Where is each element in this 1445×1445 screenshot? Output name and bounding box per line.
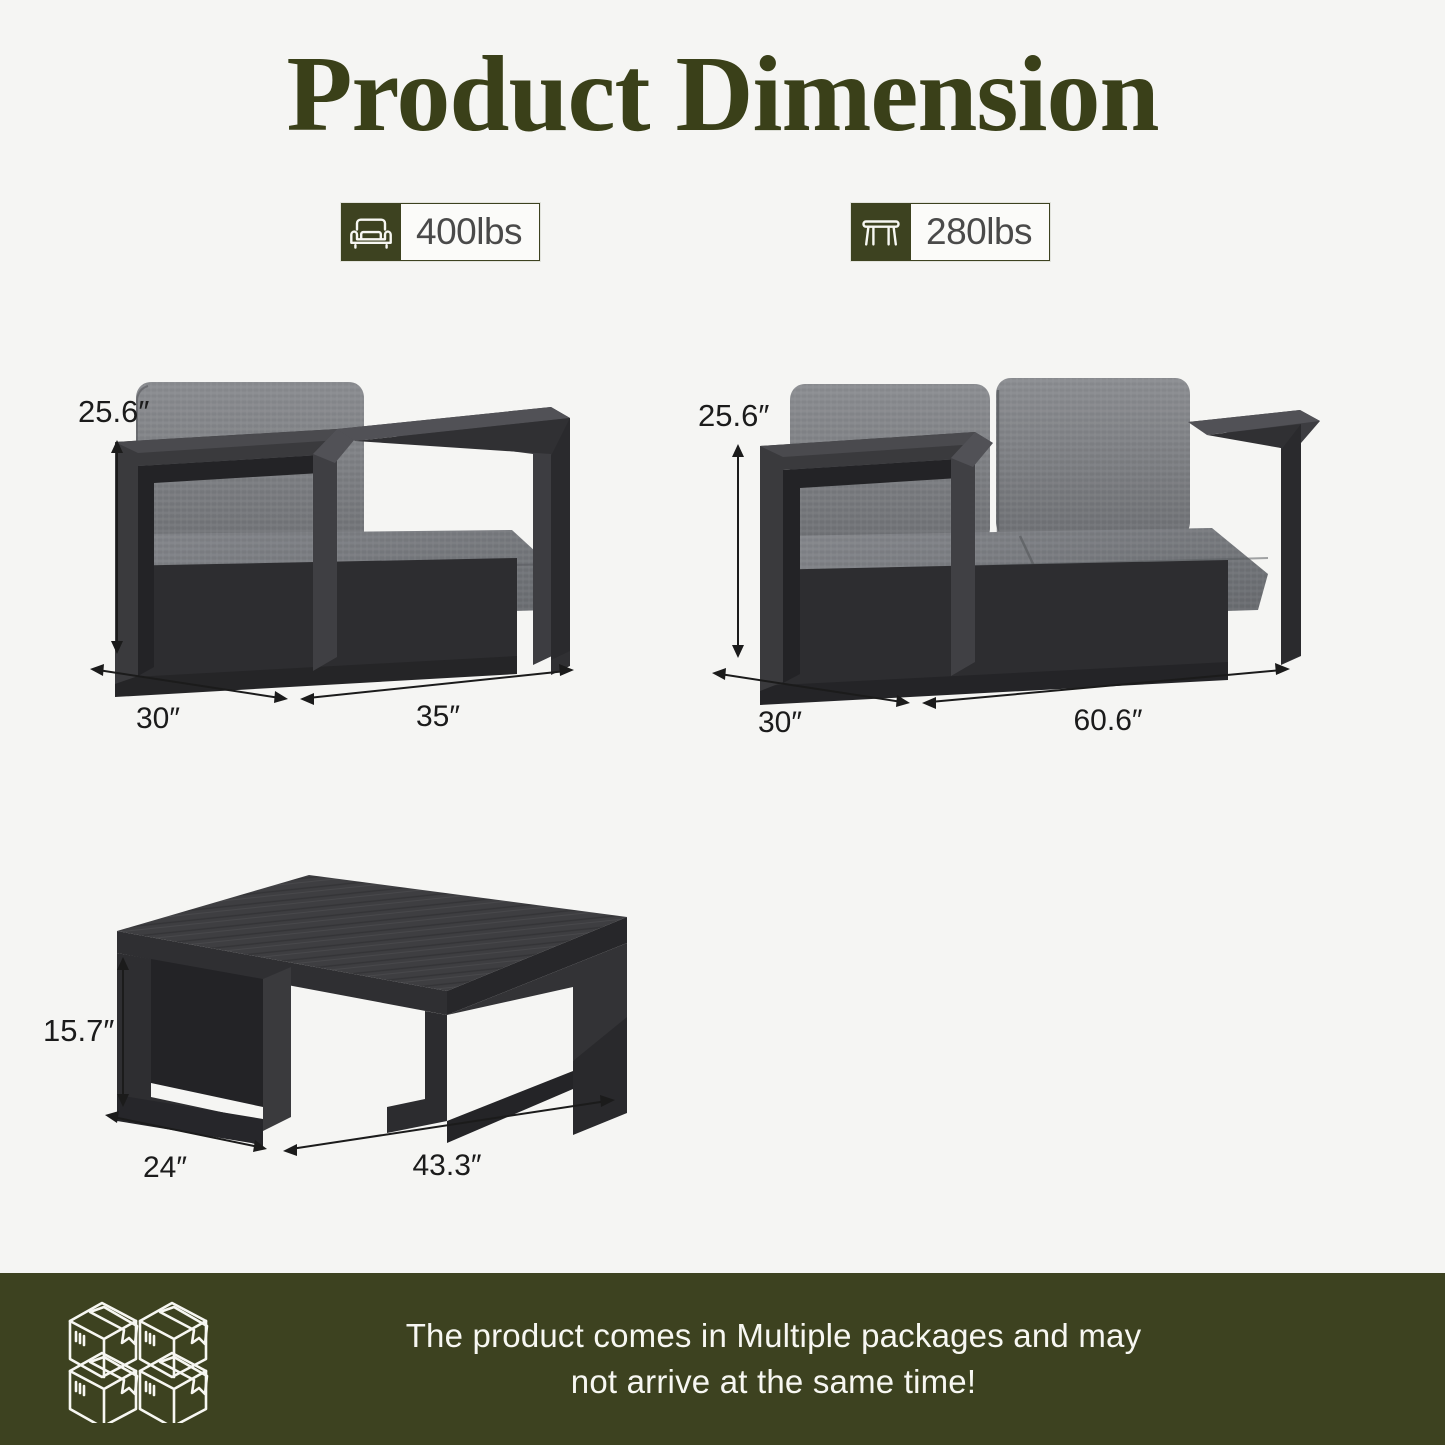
packages-icon [62, 1291, 222, 1428]
coffee-table-height-label: 15.7″ [43, 1013, 114, 1048]
footer-message: The product comes in Multiple packages a… [222, 1313, 1445, 1404]
footer-message-line1: The product comes in Multiple packages a… [222, 1313, 1325, 1359]
loveseat-base [760, 560, 1228, 705]
footer-banner: The product comes in Multiple packages a… [0, 1273, 1445, 1445]
loveseat-height-dimension: 25.6″ [698, 398, 769, 658]
armchair-figure: 25.6″ 30″ 35″ [70, 360, 630, 750]
sofa-icon [341, 203, 401, 261]
coffee-table-left-leg [117, 953, 291, 1147]
armchair-depth-label: 30″ [136, 702, 180, 735]
loveseat-width-label: 60.6″ [1073, 704, 1142, 737]
capacity-badge-sofa: 400lbs [341, 203, 540, 261]
loveseat-height-label: 25.6″ [698, 398, 769, 433]
footer-message-line2: not arrive at the same time! [222, 1359, 1325, 1405]
coffee-table-depth-label: 24″ [143, 1151, 187, 1184]
capacity-badge-table-value: 280lbs [911, 203, 1050, 261]
coffee-table-width-label: 43.3″ [412, 1149, 481, 1182]
loveseat-depth-label: 30″ [758, 706, 802, 739]
coffee-table-height-dimension: 15.7″ [43, 957, 129, 1107]
armchair-height-label: 25.6″ [78, 394, 149, 429]
infographic-page: Product Dimension 400lbs [0, 0, 1445, 1445]
loveseat-figure: 25.6″ 30″ 60.6″ [690, 360, 1330, 750]
table-icon [851, 203, 911, 261]
loveseat-back-cushion-right [996, 378, 1190, 540]
coffee-table-figure: 15.7″ 24″ 43.3″ [95, 865, 665, 1195]
page-title: Product Dimension [0, 38, 1445, 151]
armchair-width-label: 35″ [416, 700, 460, 733]
capacity-badge-table: 280lbs [851, 203, 1050, 261]
capacity-badge-sofa-value: 400lbs [401, 203, 540, 261]
